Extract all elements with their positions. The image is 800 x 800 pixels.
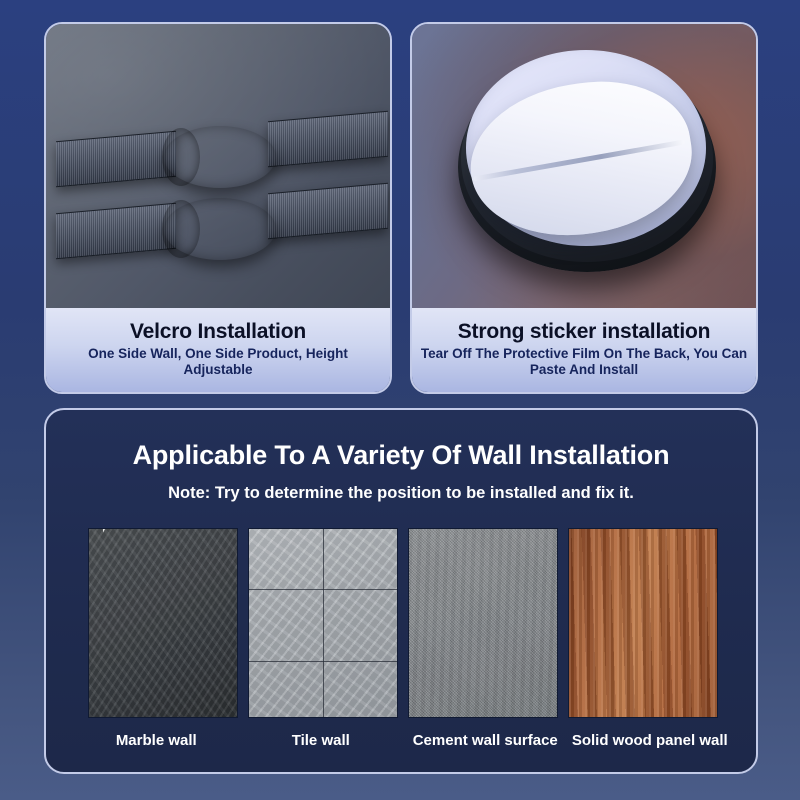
velcro-title: Velcro Installation bbox=[130, 320, 306, 344]
installation-methods-row: Velcro Installation One Side Wall, One S… bbox=[44, 22, 758, 394]
adhesive-disc bbox=[458, 62, 716, 272]
wall-label-marble: Marble wall bbox=[74, 732, 239, 749]
wall-swatch-marble bbox=[88, 528, 238, 718]
adhesive-sticker-disc-photo bbox=[412, 24, 756, 308]
velcro-strip-upper bbox=[54, 120, 384, 182]
velcro-subtitle: One Side Wall, One Side Product, Height … bbox=[54, 346, 382, 378]
wall-label-wood: Solid wood panel wall bbox=[568, 732, 733, 749]
sticker-subtitle: Tear Off The Protective Film On The Back… bbox=[420, 346, 748, 378]
velcro-strips-photo bbox=[46, 24, 390, 308]
method-card-sticker[interactable]: Strong sticker installation Tear Off The… bbox=[410, 22, 758, 394]
method-card-velcro[interactable]: Velcro Installation One Side Wall, One S… bbox=[44, 22, 392, 394]
sticker-title: Strong sticker installation bbox=[458, 320, 711, 344]
wall-swatch-tile bbox=[248, 528, 398, 718]
velcro-strip-lower bbox=[54, 190, 384, 252]
wall-label-cement: Cement wall surface bbox=[403, 732, 568, 749]
wall-swatch-row bbox=[46, 528, 758, 728]
wall-types-note: Note: Try to determine the position to b… bbox=[46, 484, 756, 503]
wall-swatch-wood bbox=[568, 528, 718, 718]
wall-types-card: Applicable To A Variety Of Wall Installa… bbox=[44, 408, 758, 774]
wall-label-tile: Tile wall bbox=[239, 732, 404, 749]
infographic-page: Velcro Installation One Side Wall, One S… bbox=[0, 0, 800, 800]
sticker-caption: Strong sticker installation Tear Off The… bbox=[412, 308, 756, 392]
wall-types-title: Applicable To A Variety Of Wall Installa… bbox=[46, 440, 756, 471]
wall-swatch-cement bbox=[408, 528, 558, 718]
velcro-caption: Velcro Installation One Side Wall, One S… bbox=[46, 308, 390, 392]
wall-label-row: Marble wall Tile wall Cement wall surfac… bbox=[46, 732, 758, 749]
